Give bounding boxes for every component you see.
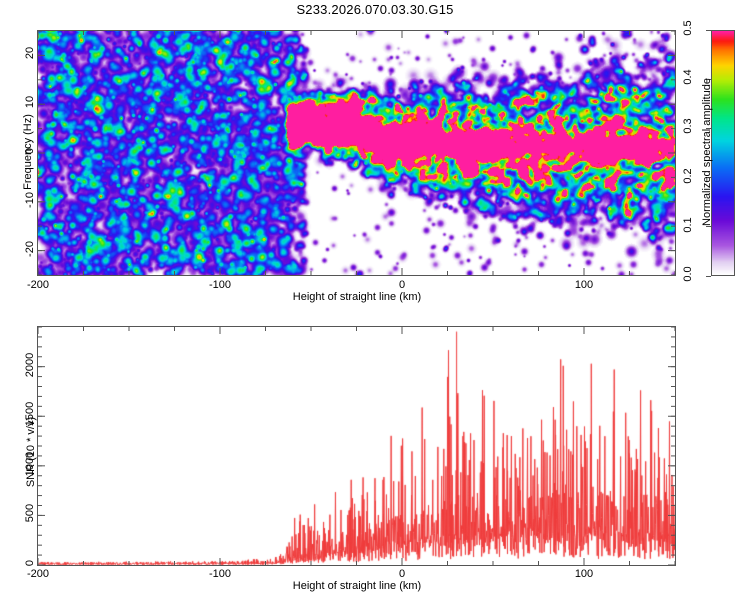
snr-axes-overlay — [38, 327, 675, 565]
y-tick-label: 0 — [24, 543, 36, 583]
y-tick-label: 20 — [24, 33, 36, 73]
colorbar-tick-label: 0.3 — [682, 109, 694, 143]
x-tick-label: -200 — [8, 279, 68, 291]
x-tick-label: -200 — [8, 568, 68, 580]
x-tick-label: 100 — [554, 279, 614, 291]
colorbar-tick — [706, 276, 711, 277]
x-tick-label: 0 — [372, 279, 432, 291]
colorbar-label: Normalized spectral amplitude — [701, 67, 713, 237]
colorbar-tick-label: 0.4 — [682, 60, 694, 94]
colorbar-gradient — [712, 31, 734, 275]
snr-xaxis-label: Height of straight line (km) — [187, 580, 527, 592]
x-tick-label: -100 — [190, 568, 250, 580]
spectrogram-xaxis-label: Height of straight line (km) — [187, 291, 527, 303]
colorbar-tick-label: 0.1 — [682, 208, 694, 242]
colorbar-tick — [706, 30, 711, 31]
spectrogram-panel — [37, 30, 676, 276]
colorbar-tick-label: 0.5 — [682, 11, 694, 45]
x-tick-label: -100 — [190, 279, 250, 291]
snr-panel — [37, 326, 676, 566]
x-tick-label: 100 — [554, 568, 614, 580]
colorbar-tick-label: 0.2 — [682, 159, 694, 193]
colorbar-tick-label: 0.0 — [682, 257, 694, 291]
snr-yaxis-label: SNR (10 * v/v) — [25, 377, 37, 527]
spectrogram-axes-overlay — [38, 31, 675, 275]
colorbar — [711, 30, 735, 276]
page-title: S233.2026.070.03.30.G15 — [0, 2, 750, 17]
figure-root: S233.2026.070.03.30.G15 -200-1000100-20-… — [0, 0, 750, 600]
x-tick-label: 0 — [372, 568, 432, 580]
y-tick-label: -20 — [24, 229, 36, 269]
spectrogram-yaxis-label: Frequency (Hz) — [22, 72, 34, 232]
